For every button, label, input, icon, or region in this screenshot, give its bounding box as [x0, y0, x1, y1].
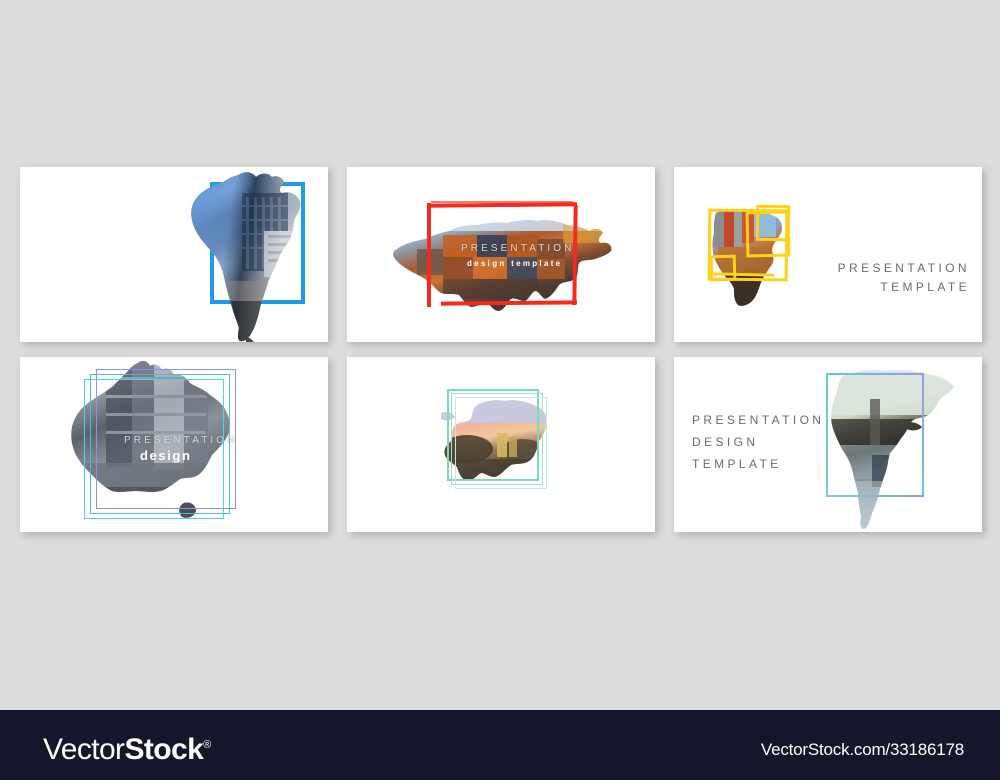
slide-6-title-line-1: PRESENTATION — [692, 413, 824, 427]
slide-2-subtitle: design template — [467, 259, 562, 268]
logo-text-stock: Stock — [124, 733, 203, 766]
vectorstock-url: VectorStock.com/33186178 — [761, 740, 964, 760]
slide-6-title-line-3: TEMPLATE — [692, 457, 782, 471]
slide-6-title-line-2: DESIGN — [692, 435, 758, 449]
slide-3-title-line-2: TEMPLATE — [880, 280, 970, 294]
registered-trademark-icon: ® — [203, 739, 211, 751]
slide-4-subtitle: design — [140, 448, 192, 463]
slide-card-4[interactable]: PRESENTATION design — [20, 357, 328, 532]
slide-card-6[interactable]: PRESENTATION DESIGN TEMPLATE — [674, 357, 982, 532]
slide-card-5[interactable] — [347, 357, 655, 532]
slides-stage: PRESENTATION design template — [0, 0, 1000, 710]
slide-1-map-south-america — [180, 169, 315, 342]
slide-card-1[interactable] — [20, 167, 328, 342]
slide-3-title-line-1: PRESENTATION — [838, 261, 970, 275]
slide-card-3[interactable]: PRESENTATION TEMPLATE — [674, 167, 982, 342]
slide-4-title: PRESENTATION — [124, 435, 238, 446]
slide-2-title: PRESENTATION — [461, 243, 575, 254]
slide-card-2[interactable]: PRESENTATION design template — [347, 167, 655, 342]
logo-text-vector: Vector — [43, 733, 124, 766]
watermark-footer: VectorStock® VectorStock.com/33186178 — [0, 710, 1000, 780]
slide-6-map-americas — [814, 363, 982, 532]
vectorstock-logo: VectorStock® — [43, 730, 211, 765]
